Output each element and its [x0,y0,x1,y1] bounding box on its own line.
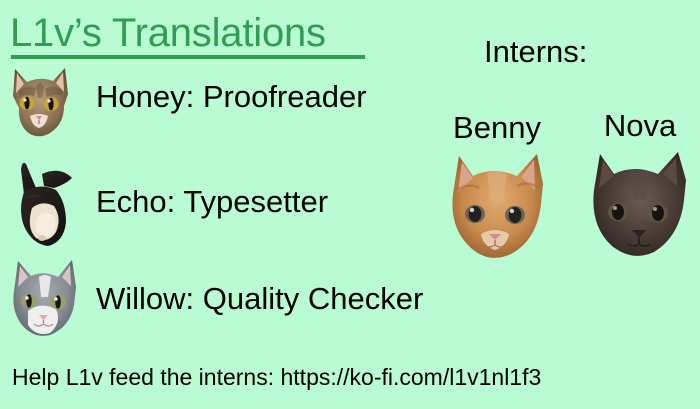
page-title: L1v’s Translations [10,11,410,55]
intern-nova: Nova [580,108,700,268]
staff-label-echo: Echo: Typesetter [96,184,328,220]
nova-cat-avatar [580,150,700,268]
brown-tabby-cat-head-icon [6,64,74,138]
staff-label-willow: Willow: Quality Checker [96,281,423,317]
footer-support-text: Help L1v feed the interns: https://ko-fi… [12,363,541,391]
grey-white-cat-head-icon [6,257,84,343]
orange-tabby-kitten-head-icon [445,150,549,270]
willow-cat-avatar [6,257,84,343]
staff-label-honey: Honey: Proofreader [96,79,367,115]
interns-heading: Interns: [484,34,587,70]
black-kitten-head-icon [588,150,692,268]
benny-cat-avatar [437,150,557,270]
intern-benny: Benny [437,110,557,270]
honey-cat-avatar [6,64,74,138]
intern-name-benny: Benny [437,110,557,146]
credits-card: L1v’s Translations [0,0,700,409]
title-underline [11,55,365,59]
tuxedo-cat-head-icon [8,158,78,256]
echo-cat-avatar [8,158,78,256]
intern-name-nova: Nova [580,108,700,144]
title-block: L1v’s Translations [10,11,410,61]
